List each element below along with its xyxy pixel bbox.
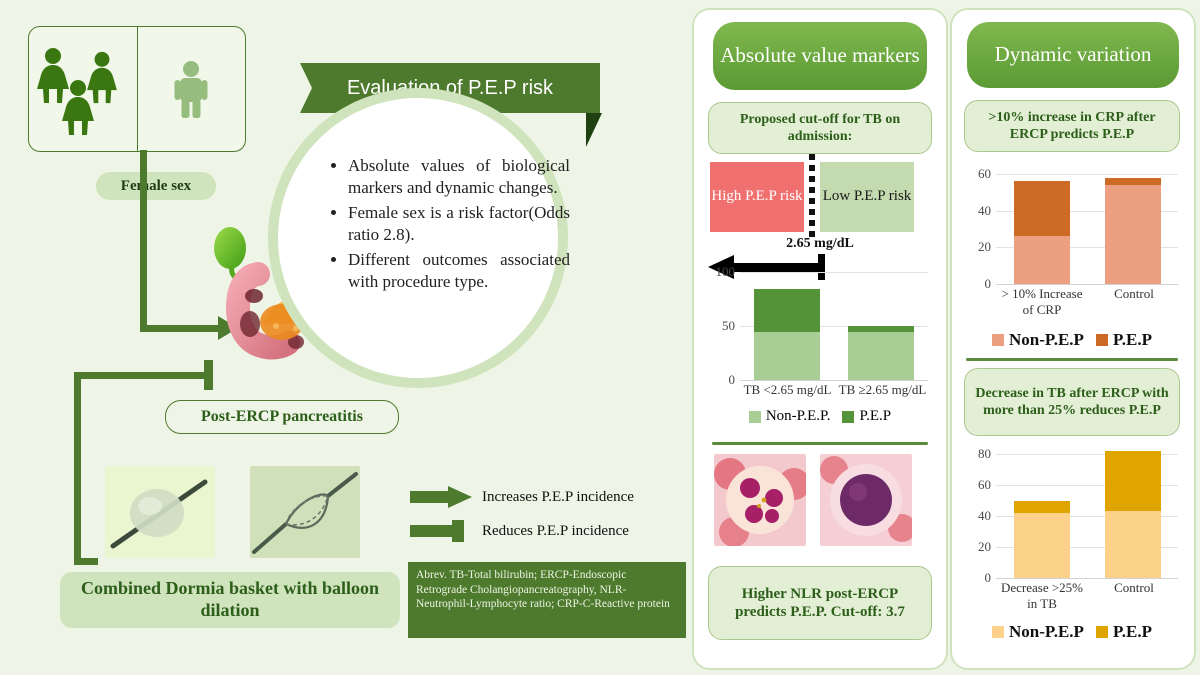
banner-tail-icon (586, 113, 602, 147)
crp-x-labels: > 10% Increase of CRPControl (996, 286, 1180, 318)
high-risk-box: High P.E.P risk (710, 162, 804, 232)
connector-dormia-foot (74, 558, 98, 565)
bar-1 (1014, 181, 1070, 284)
grid-line (996, 174, 1178, 175)
male-group (138, 27, 246, 151)
legend-item: P.E.P (1096, 330, 1152, 350)
female-group (29, 27, 138, 151)
y-axis-tick: 0 (985, 570, 992, 586)
bar-segment-nonpep (1014, 513, 1070, 578)
legend-swatch (842, 411, 854, 423)
evaluation-bullets: Absolute values of biological markers an… (330, 155, 570, 296)
y-axis-tick: 80 (978, 446, 991, 462)
bar-segment-pep (1105, 451, 1161, 511)
x-axis-label: TB ≥2.65 mg/dL (835, 382, 930, 398)
bar-segment-nonpep (1014, 236, 1070, 284)
legend-row-reduces: Reduces P.E.P incidence (410, 514, 650, 548)
tb-decrease-legend: Non-P.E.PP.E.P (960, 622, 1184, 642)
bullet-item: Absolute values of biological markers an… (348, 155, 570, 200)
plot-area: 020406080 (996, 454, 1178, 578)
legend-label-reduces: Reduces P.E.P incidence (482, 523, 629, 540)
cutoff-divider-icon (809, 154, 815, 238)
y-axis-tick: 60 (978, 477, 991, 493)
section-divider (966, 358, 1178, 361)
crp-callout: >10% increase in CRP after ERCP predicts… (964, 100, 1180, 152)
abbreviations-box: Abrev. TB-Total bilirubin; ERCP-Endoscop… (408, 562, 686, 638)
balloon-dilator-image (105, 466, 215, 558)
dynamic-variation-panel: Dynamic variation >10% increase in CRP a… (950, 8, 1196, 670)
y-axis-tick: 40 (978, 203, 991, 219)
legend-label: Non-P.E.P. (766, 408, 831, 425)
bar-segment-pep (754, 289, 820, 332)
bar-1 (1014, 501, 1070, 579)
tb-admission-x-labels: TB <2.65 mg/dLTB ≥2.65 mg/dL (740, 382, 930, 398)
lymphocyte-micrograph (820, 454, 912, 546)
cutoff-callout: Proposed cut-off for TB on admission: (708, 102, 932, 154)
legend-swatch (1096, 334, 1108, 346)
blood-cell-images (714, 454, 912, 546)
tb-admission-chart: 050100 (706, 272, 934, 380)
legend-swatch (1096, 626, 1108, 638)
y-axis-tick: 0 (985, 276, 992, 292)
connector-female-vertical (140, 150, 147, 332)
dormia-basket-label: Combined Dormia basket with balloon dila… (60, 572, 400, 628)
male-figure-icon (173, 60, 209, 118)
bar-segment-pep (1105, 178, 1161, 185)
post-ercp-pancreatitis-label: Post-ERCP pancreatitis (165, 400, 399, 434)
arrow-legend: Increases P.E.P incidence Reduces P.E.P … (410, 480, 650, 548)
bar-2 (1105, 178, 1161, 284)
bar-segment-nonpep (848, 332, 914, 380)
legend-row-increases: Increases P.E.P incidence (410, 480, 650, 514)
nlr-callout: Higher NLR post-ERCP predicts P.E.P. Cut… (708, 566, 932, 640)
legend-label: P.E.P (1113, 622, 1152, 642)
legend-swatch (749, 411, 761, 423)
bar-segment-nonpep (1105, 511, 1161, 578)
cutoff-value: 2.65 mg/dL (770, 236, 870, 252)
panel-title-dynamic: Dynamic variation (967, 22, 1179, 88)
y-axis-tick: 20 (978, 539, 991, 555)
legend-label: Non-P.E.P (1009, 330, 1084, 350)
risk-split: High P.E.P risk Low P.E.P risk (710, 162, 914, 232)
bullet-item: Different outcomes associated with proce… (348, 249, 570, 294)
female-sex-label: Female sex (96, 172, 216, 200)
x-axis-label: Control (1088, 286, 1180, 318)
bullet-item: Female sex is a risk factor(Odds ratio 2… (348, 202, 570, 247)
legend-label: P.E.P (859, 408, 891, 425)
left-region: Female sex (0, 0, 690, 675)
x-axis-label: TB <2.65 mg/dL (740, 382, 835, 398)
dormia-basket-image (250, 466, 360, 558)
y-axis-tick: 100 (716, 264, 736, 280)
legend-item: P.E.P (1096, 622, 1152, 642)
neutrophil-micrograph (714, 454, 806, 546)
sex-comparison-card (28, 26, 246, 152)
panel-title-absolute: Absolute value markers (713, 22, 927, 90)
y-axis-tick: 60 (978, 166, 991, 182)
connector-dormia-horizontal (74, 372, 210, 379)
tb-decrease-chart: 020406080 (962, 454, 1184, 578)
legend-item: Non-P.E.P. (749, 408, 831, 425)
legend-label: P.E.P (1113, 330, 1152, 350)
crp-increase-chart: 0204060 (962, 174, 1184, 284)
plot-area: 050100 (740, 272, 928, 380)
y-axis-tick: 20 (978, 239, 991, 255)
absolute-value-markers-panel: Absolute value markers Proposed cut-off … (692, 8, 948, 670)
low-risk-box: Low P.E.P risk (820, 162, 914, 232)
connector-dormia-vertical (74, 372, 81, 564)
tb-admission-legend: Non-P.E.P.P.E.P (704, 408, 936, 425)
grid-line (740, 272, 928, 273)
female-figure-icon (57, 79, 99, 137)
x-axis-label: Decrease >25% in TB (996, 580, 1088, 612)
legend-item: Non-P.E.P (992, 622, 1084, 642)
blunt-end-arrow-icon (410, 520, 472, 542)
crp-legend: Non-P.E.PP.E.P (960, 330, 1184, 350)
tb-decrease-x-labels: Decrease >25% in TBControl (996, 580, 1180, 612)
legend-swatch (992, 626, 1004, 638)
bar-2 (848, 326, 914, 380)
legend-label: Non-P.E.P (1009, 622, 1084, 642)
x-axis-label: > 10% Increase of CRP (996, 286, 1088, 318)
plot-area: 0204060 (996, 174, 1178, 284)
y-axis-tick: 50 (722, 318, 735, 334)
x-axis-label: Control (1088, 580, 1180, 612)
legend-item: Non-P.E.P (992, 330, 1084, 350)
y-axis-tick: 0 (729, 372, 736, 388)
legend-item: P.E.P (842, 408, 891, 425)
legend-swatch (992, 334, 1004, 346)
bar-segment-nonpep (754, 332, 820, 380)
bar-segment-nonpep (1105, 185, 1161, 284)
infographic-canvas: Female sex (0, 0, 1200, 675)
bar-2 (1105, 451, 1161, 578)
solid-arrow-icon (410, 486, 472, 508)
bar-segment-pep (1014, 181, 1070, 236)
section-divider (712, 442, 928, 445)
legend-label-increases: Increases P.E.P incidence (482, 489, 634, 506)
bar-segment-pep (1014, 501, 1070, 513)
tb-decrease-callout: Decrease in TB after ERCP with more than… (964, 368, 1180, 436)
y-axis-tick: 40 (978, 508, 991, 524)
bar-1 (754, 289, 820, 380)
